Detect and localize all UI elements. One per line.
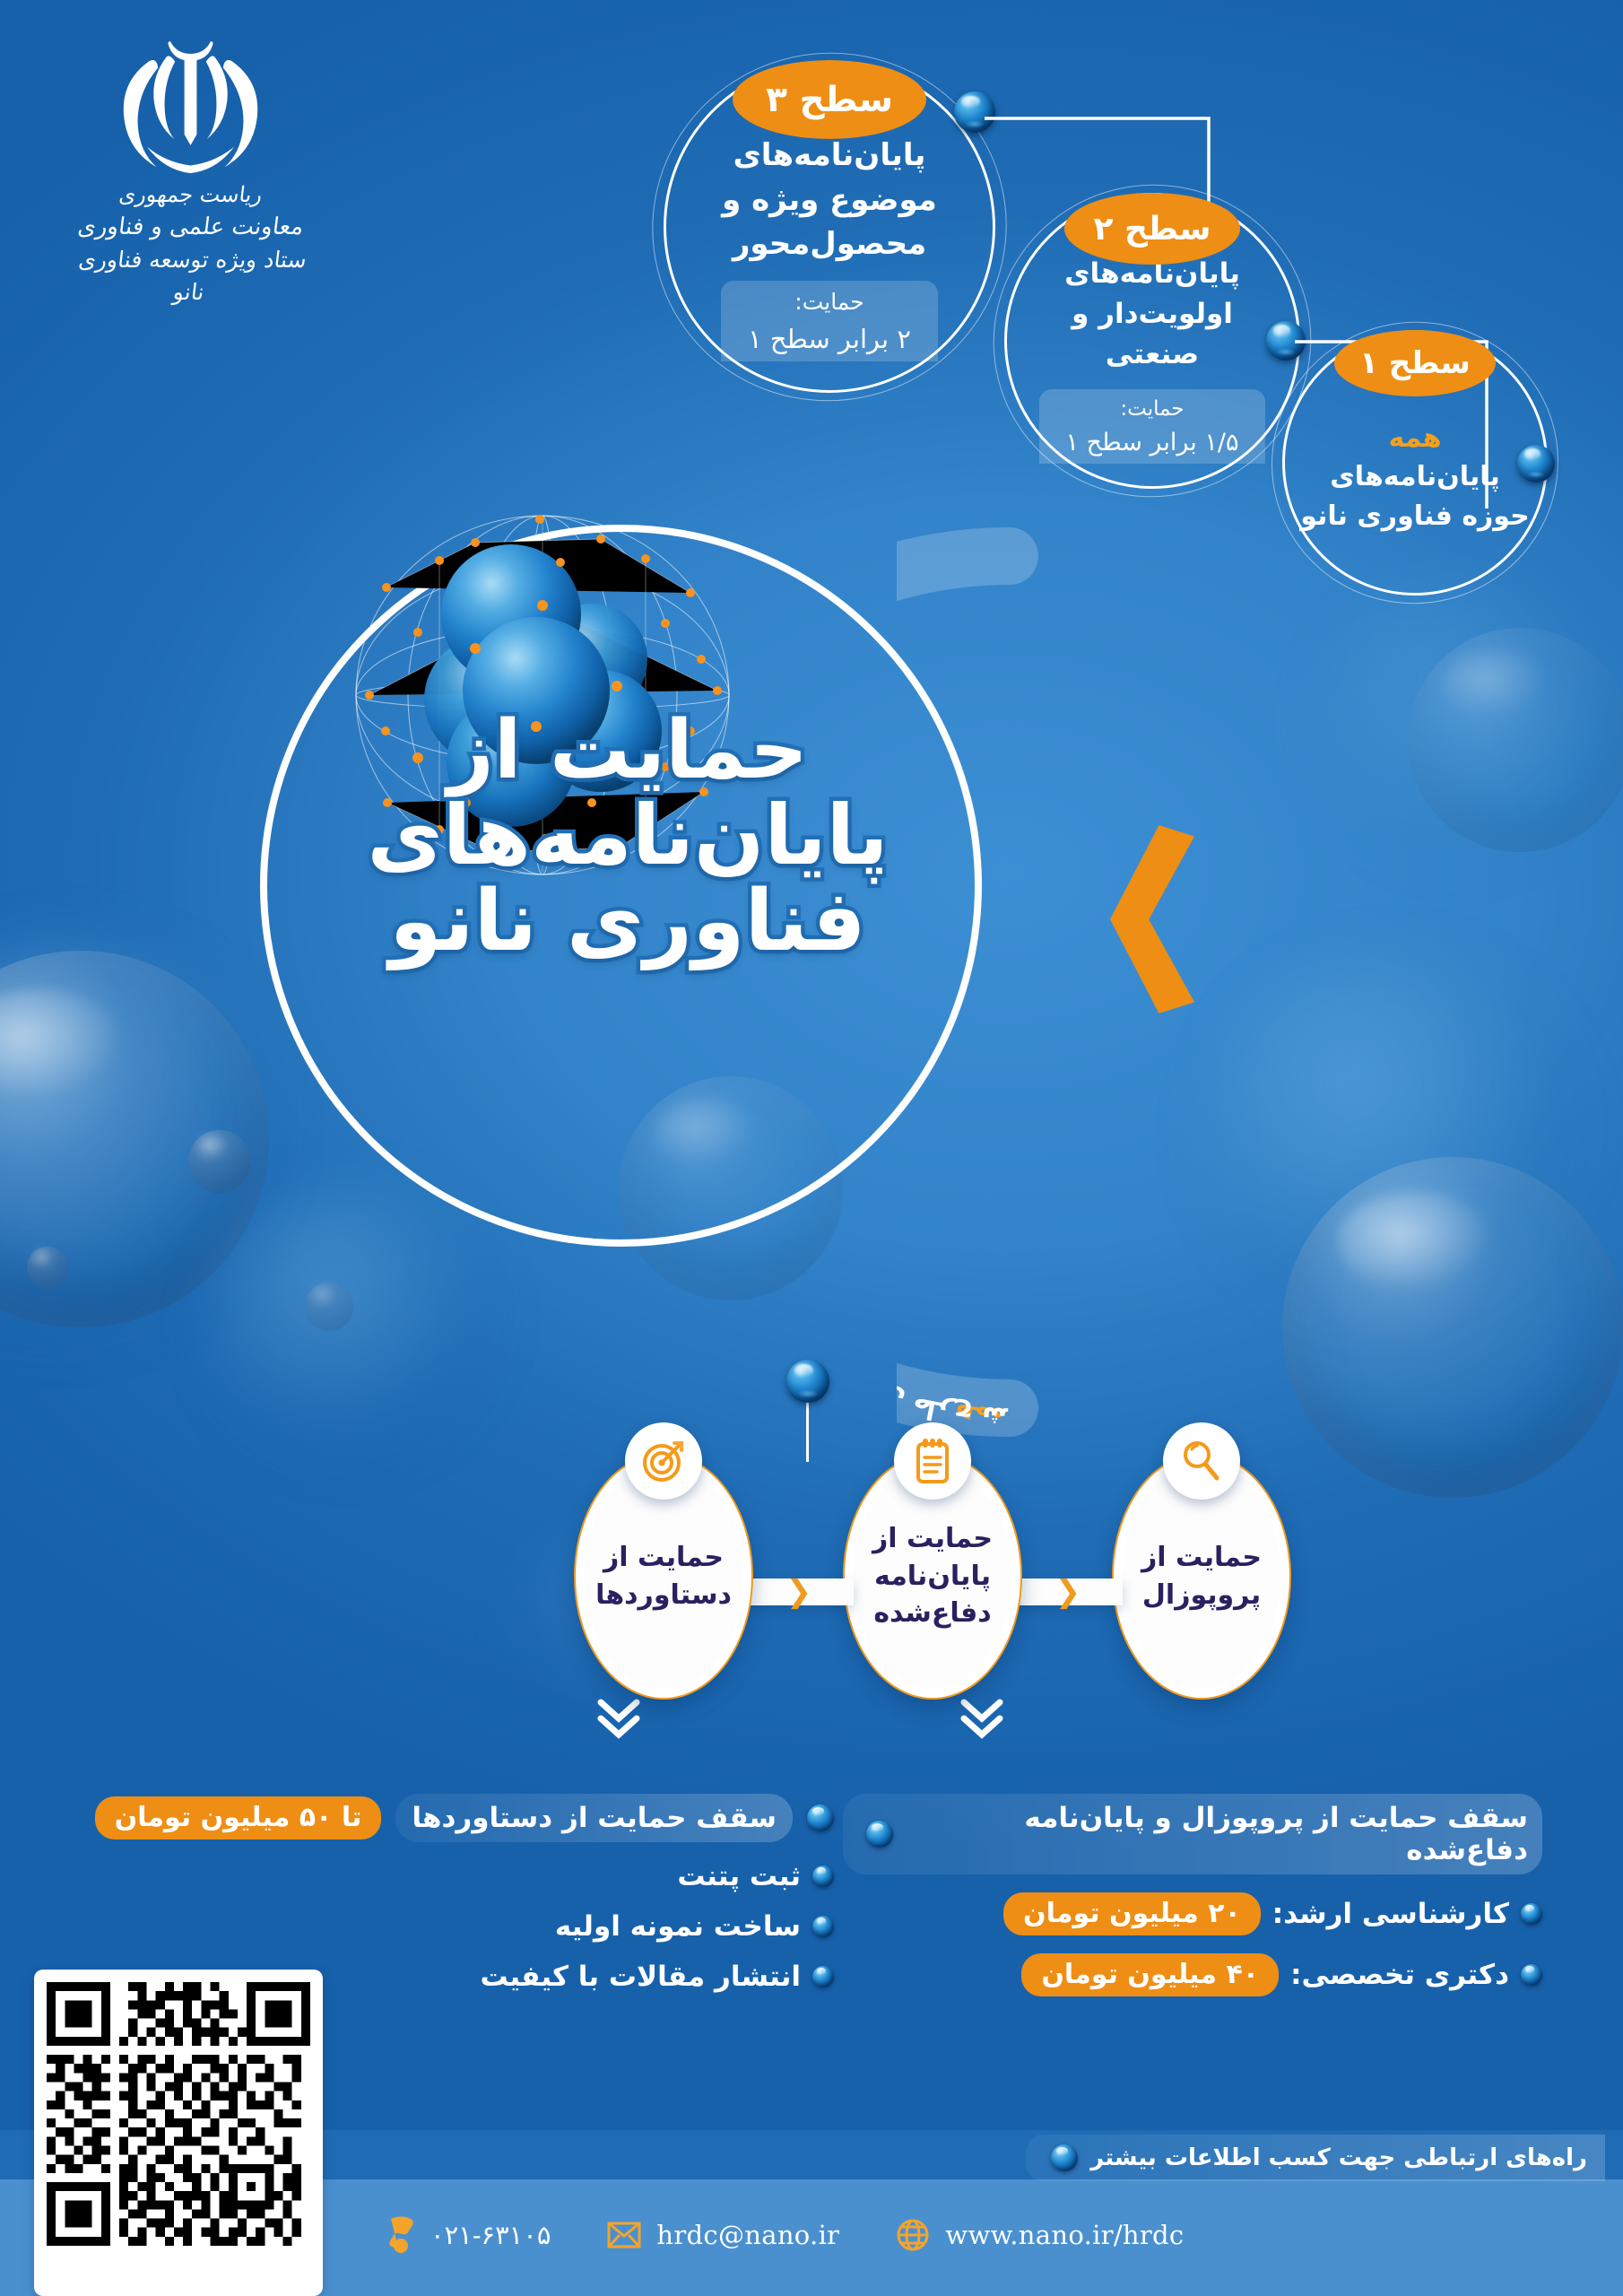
info-left-row: ساخت نمونه اولیه [90,1910,834,1943]
org-line-1: ریاست جمهوری [74,179,307,211]
info-right-row-amount: ۲۰ میلیون تومان [1003,1892,1261,1935]
info-left-header-row: سقف حمایت از دستاوردها تا ۵۰ میلیون توما… [90,1794,834,1842]
stage-connector-1: ❮ [1013,1578,1123,1605]
stage-connector-2: ❮ [744,1578,854,1605]
bullet-sphere-icon [866,1821,893,1848]
ring-caption-text: این طرح شامل همه پایان‌نامه‌های تحصیلات … [897,502,1009,1432]
level-1-node [1517,445,1555,483]
chevron-left-icon: ❮ [1055,1577,1081,1607]
stage-achievements[interactable]: حمایت از دستاوردها [574,1453,753,1700]
iran-emblem-icon [112,30,269,174]
info-left-row-label: ثبت پتنت [677,1860,801,1892]
globe-icon [895,2217,931,2253]
level-2-support: حمایت: ۱/۵ برابر سطح ۱ [1039,389,1266,464]
bullet-sphere-icon [807,1805,834,1831]
contact-website[interactable]: www.nano.ir/hrdc [895,2217,1184,2253]
bullet-sphere-icon [812,1916,834,1937]
bullet-sphere-icon [1051,2144,1078,2171]
bullet-sphere-icon [812,1966,834,1987]
level-2-group: سطح ۲ پایان‌نامه‌های اولویت‌دار و صنعتی … [1004,193,1300,489]
stages-row: حمایت از پروپوزال ❮ حمایت از پایان [332,1444,1291,1713]
contact-phone-value: ۰۲۱-۶۳۱۰۵ [430,2220,551,2250]
info-left-row: ثبت پتنت [90,1860,834,1892]
stage-proposal[interactable]: حمایت از پروپوزال [1112,1453,1291,1700]
level-3-support-label: حمایت: [794,289,864,315]
info-support-caps-achievements: سقف حمایت از دستاوردها تا ۵۰ میلیون توما… [90,1794,834,1993]
level-3-badge: سطح ۳ [733,60,926,139]
bullet-sphere-icon [1521,1964,1542,1986]
info-left-header-label: سقف حمایت از دستاوردها [412,1802,777,1834]
info-right-row-label: دکتری تخصصی: [1290,1959,1509,1991]
poster-canvas: ریاست جمهوری معاونت علمی و فناوری ستاد و… [0,0,1623,2296]
info-support-caps-proposal: سقف حمایت از پروپوزال و پایان‌نامه دفاع‌… [843,1794,1542,1996]
footer-contacts: www.nano.ir/hrdc hrdc@nano.ir ۰۲۱-۶۳۱۰۵ [386,2215,1184,2255]
level-2-support-value: ۱/۵ برابر سطح ۱ [1066,426,1239,460]
background-bubble [305,1283,353,1331]
bullet-sphere-icon [812,1865,834,1887]
info-right-row-amount: ۴۰ میلیون تومان [1021,1953,1279,1996]
org-line-2: معاونت علمی و فناوری [74,211,308,245]
stage-defended-thesis-label: حمایت از پایان‌نامه دفاع‌شده [845,1520,1020,1631]
ring-caption-band: همه این طرح شامل همه پایان‌نامه‌های تحصی… [897,502,1345,1453]
info-right-row: کارشناسی ارشد: ۲۰ میلیون تومان [843,1892,1542,1935]
level-3-node [954,91,995,133]
target-icon [625,1422,702,1500]
level-2-support-label: حمایت: [1120,397,1184,421]
footer-header-label: راه‌های ارتباطی جهت کسب اطلاعات بیشتر [1090,2144,1587,2171]
title-line-3: فناوری نانو [354,878,901,966]
background-bubble [27,1247,68,1288]
background-bubble [188,1130,251,1193]
level-3-support-value: ۲ برابر سطح ۱ [748,321,911,358]
bullet-sphere-icon [1521,1903,1542,1925]
org-line-3: ستاد ویژه توسعه فناوری نانو [73,244,309,309]
title-line-2: پایان‌نامه‌های [354,793,901,879]
level-3-group: سطح ۳ پایان‌نامه‌های موضوع ویژه و محصول‌… [664,61,995,393]
background-bubble [1408,628,1623,852]
background-bubble [0,951,269,1327]
background-blob [206,1184,502,1471]
clipboard-icon [894,1422,971,1500]
level-2-title: پایان‌نامه‌های اولویت‌دار و صنعتی [1007,254,1298,375]
qr-code-matrix [47,1982,310,2246]
level-2-circle: سطح ۲ پایان‌نامه‌های اولویت‌دار و صنعتی … [1004,193,1300,489]
level-3-circle: سطح ۳ پایان‌نامه‌های موضوع ویژه و محصول‌… [664,61,995,393]
level-3-title: پایان‌نامه‌های موضوع ویژه و محصول‌محور [666,134,993,266]
chevron-left-icon: ❮ [786,1577,812,1607]
organization-logo: ریاست جمهوری معاونت علمی و فناوری ستاد و… [76,30,305,309]
magnifier-icon [1163,1422,1240,1500]
level-1-title-highlight: همه [1388,422,1441,454]
qr-code-icon[interactable] [34,1970,323,2296]
background-blob [1309,574,1623,879]
info-right-row: دکتری تخصصی: ۴۰ میلیون تومان [843,1953,1542,1996]
info-right-row-label: کارشناسی ارشد: [1272,1898,1509,1930]
level-2-badge: سطح ۲ [1064,193,1240,265]
level-1-badge: سطح ۱ [1334,330,1496,396]
stage-proposal-label: حمایت از پروپوزال [1114,1539,1289,1613]
stage-achievements-label: حمایت از دستاوردها [576,1539,751,1613]
info-left-row-label: ساخت نمونه اولیه [555,1910,801,1943]
svg-text:این طرح شامل همه پایان‌نامه‌ها: این طرح شامل همه پایان‌نامه‌های تحصیلات … [897,502,1009,1432]
phone-icon [386,2215,416,2255]
background-blob [0,933,287,1354]
envelope-icon [606,2220,642,2250]
contact-email[interactable]: hrdc@nano.ir [606,2220,839,2250]
info-right-header-label: سقف حمایت از پروپوزال و پایان‌نامه دفاع‌… [906,1802,1528,1866]
ring-bottom-node [786,1360,829,1403]
contact-email-value: hrdc@nano.ir [656,2220,839,2250]
contact-phone[interactable]: ۰۲۱-۶۳۱۰۵ [386,2215,551,2255]
title-line-1: حمایت از [354,709,901,793]
level-3-support: حمایت: ۲ برابر سطح ۱ [721,281,938,361]
info-left-row-label: انتشار مقالات با کیفیت [481,1961,801,1993]
info-right-header: سقف حمایت از پروپوزال و پایان‌نامه دفاع‌… [843,1794,1542,1874]
contact-website-value: www.nano.ir/hrdc [945,2220,1184,2250]
footer-header: راه‌های ارتباطی جهت کسب اطلاعات بیشتر [1026,2135,1605,2181]
stage-defended-thesis[interactable]: حمایت از پایان‌نامه دفاع‌شده [843,1453,1022,1700]
page-title: حمایت از پایان‌نامه‌های فناوری نانو [354,709,901,966]
info-left-amount: تا ۵۰ میلیون تومان [95,1796,382,1839]
